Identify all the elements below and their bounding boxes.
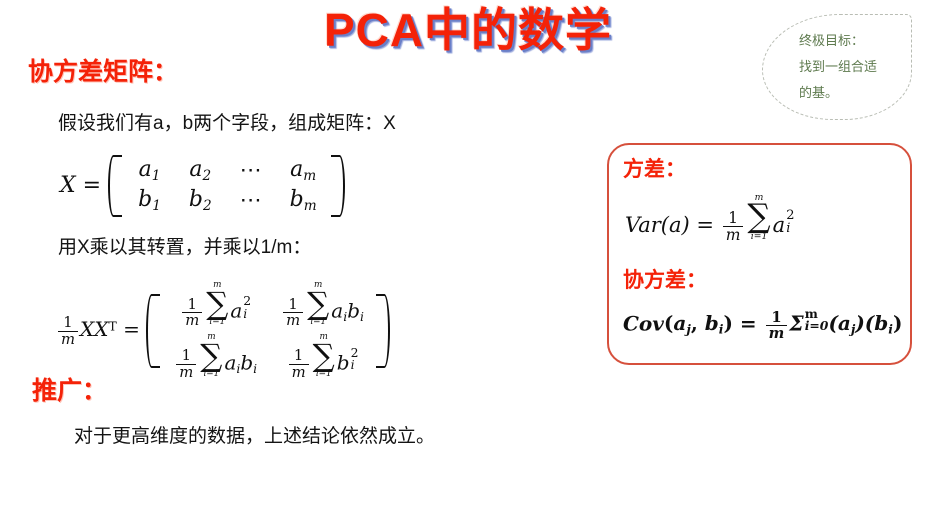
cov-equals: =: [740, 311, 757, 335]
matrix-x-lhs: X: [60, 173, 76, 198]
cell-sum-a-squared: 1mm∑i=1a2i: [162, 279, 269, 331]
coefficient-fraction: 1 m: [58, 315, 78, 347]
cell-b1: b1: [124, 186, 175, 216]
table-row: b1 b2 ⋯ bm: [124, 186, 331, 216]
cell-am: am: [276, 156, 331, 186]
slide-canvas: PCA中的数学 协方差矩阵： 假设我们有a，b两个字段，组成矩阵：X X = a…: [0, 0, 936, 528]
left-paren-icon: [146, 294, 162, 368]
transpose-superscript: T: [109, 319, 117, 334]
assumption-text: 假设我们有a，b两个字段，组成矩阵：X: [58, 108, 396, 135]
cov-sigma-symbol: Σ: [789, 311, 803, 335]
cell-bm: bm: [276, 186, 331, 216]
goal-line-2: 找到一组合适: [799, 54, 911, 80]
matrix-x-body: a1 a2 ⋯ am b1 b2 ⋯ bm: [108, 155, 347, 217]
variance-summation: m ∑ i=1: [747, 193, 770, 241]
variance-lhs: Var(a): [625, 213, 690, 237]
formula-covariance: Cov(aj, bi) = 1 m Σmi=0(aj)(bi): [623, 308, 902, 342]
cell-a-dots: ⋯: [226, 156, 276, 186]
variance-heading: 方差：: [623, 153, 686, 183]
variance-term: a: [773, 213, 786, 237]
right-paren-icon: [376, 294, 392, 368]
cov-sigma-limits: mi=0: [805, 308, 829, 333]
matrix-x-table: a1 a2 ⋯ am b1 b2 ⋯ bm: [124, 156, 331, 217]
table-row: a1 a2 ⋯ am: [124, 156, 331, 186]
cov-fraction: 1 m: [766, 310, 788, 342]
cell-sum-ab-2: 1mm∑i=1aibi: [162, 331, 269, 383]
xxt-lhs: XX: [80, 317, 108, 341]
table-row: 1mm∑i=1a2i 1mm∑i=1aibi: [162, 279, 376, 331]
variance-term-indices: 2i: [786, 209, 794, 235]
goal-callout-text: 终极目标： 找到一组合适 的基。: [799, 28, 911, 106]
section-heading-generalization: 推广：: [32, 371, 107, 407]
table-row: 1mm∑i=1aibi 1mm∑i=1b2i: [162, 331, 376, 383]
goal-line-3: 的基。: [799, 80, 911, 106]
transpose-text: 用X乘以其转置，并乘以1/m：: [58, 232, 311, 259]
cell-b-dots: ⋯: [226, 186, 276, 216]
covariance-heading: 协方差：: [623, 264, 707, 294]
right-paren-icon: [331, 155, 347, 217]
formula-matrix-x: X = a1 a2 ⋯ am b1 b2 ⋯ bm: [60, 155, 347, 217]
cov-function-name: Cov: [623, 311, 664, 335]
cell-a2: a2: [175, 156, 226, 186]
cell-b2: b2: [175, 186, 226, 216]
variance-fraction: 1 m: [723, 210, 744, 244]
variance-formula-box: 方差： Var(a) = 1 m m ∑ i=1 a2i 协方差： Cov(aj…: [607, 143, 912, 365]
xxt-matrix-table: 1mm∑i=1a2i 1mm∑i=1aibi 1mm∑i=1aibi 1mm∑i…: [162, 279, 376, 382]
matrix-x-equals: =: [83, 173, 101, 198]
section-heading-covariance-matrix: 协方差矩阵：: [28, 52, 178, 88]
conclusion-text: 对于更高维度的数据，上述结论依然成立。: [74, 421, 435, 448]
goal-callout-shape: 终极目标： 找到一组合适 的基。: [762, 14, 912, 120]
formula-variance: Var(a) = 1 m m ∑ i=1 a2i: [625, 193, 794, 243]
variance-equals: =: [696, 213, 714, 237]
formula-covariance-matrix: 1 m XXT = 1mm∑i=1a2i 1mm∑i=1aibi 1mm∑i=1…: [56, 279, 392, 382]
left-paren-icon: [108, 155, 124, 217]
goal-line-1: 终极目标：: [799, 28, 911, 54]
cov-rhs: (aj)(bi): [828, 311, 902, 336]
cell-sum-ab-1: 1mm∑i=1aibi: [269, 279, 376, 331]
xxt-matrix-body: 1mm∑i=1a2i 1mm∑i=1aibi 1mm∑i=1aibi 1mm∑i…: [146, 279, 392, 382]
xxt-equals: =: [123, 317, 140, 341]
cell-a1: a1: [124, 156, 175, 186]
cell-sum-b-squared: 1mm∑i=1b2i: [269, 331, 376, 383]
